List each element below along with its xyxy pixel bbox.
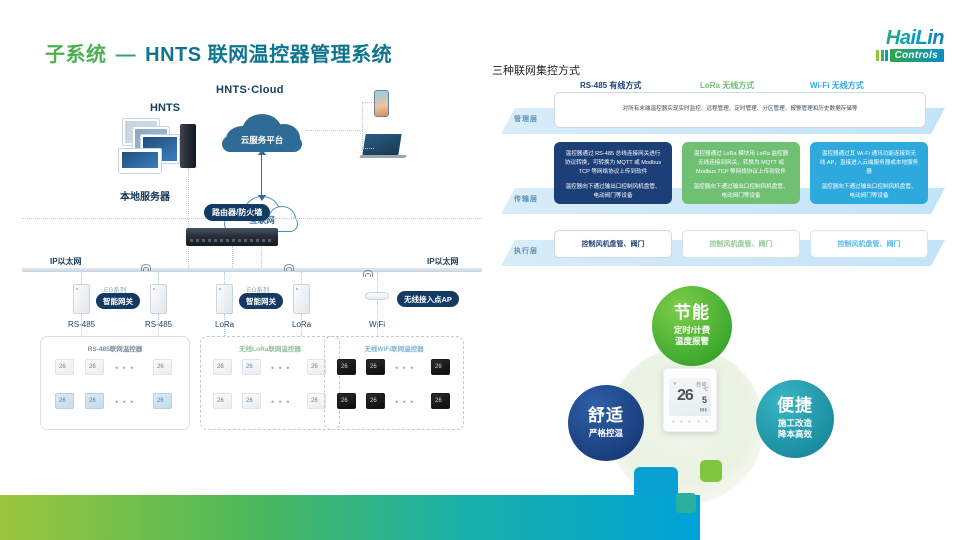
router-drop <box>232 246 233 268</box>
transport-card-wifi: 温控器通过其 Wi-Fi 通讯功能连接到无线 AP，直接进入云端服务器或本地服务… <box>810 142 928 204</box>
layer-band-3-label: 执行层 <box>514 246 538 256</box>
cloud-link-arrow <box>261 154 262 196</box>
management-layer-card: 对所有末端温控器实现实时监控、远程管理、定时管理、分区管理、报警管理和历史数据存… <box>554 92 926 128</box>
gw2-stem <box>224 272 225 284</box>
thermostat-temperature-decimal: 5 <box>702 395 707 405</box>
benefit-circle-comfort: 舒适 严格控温 <box>568 385 644 461</box>
transport-card-rs485-p1: 温控器通过 RS-485 总线连接网关进行协议转换，可转换为 MQTT 或 Mo… <box>563 150 663 178</box>
execution-card-wifi: 控制风机盘管、阀门 <box>810 230 928 258</box>
wifi-signal-icon-2 <box>283 264 294 272</box>
thermostat-buttons[interactable] <box>669 417 711 426</box>
execution-card-rs485-label: 控制风机盘管、阀门 <box>582 239 645 249</box>
layer-band-1-label: 管理层 <box>514 114 538 124</box>
lora-drop-a <box>224 314 225 336</box>
lora-drop-b <box>301 314 302 336</box>
transport-card-wifi-p2: 温控器向下通过输出口控制风机盘管、电动阀门等设备 <box>819 183 919 201</box>
thermostat: 26 <box>55 393 74 409</box>
benefit-convenience-line2: 降本高效 <box>778 429 812 440</box>
mode-header-lora: LoRa 无线方式 <box>700 80 754 91</box>
thermostat-screen: ❄ 自动 26 5 ℃ ▮▮▮ <box>669 378 711 416</box>
ellipsis: • • • <box>271 397 290 407</box>
thermostat: 26 <box>337 359 356 375</box>
benefit-energy-title: 节能 <box>674 304 710 323</box>
cloud-platform-shape: 云服务平台 <box>218 112 306 152</box>
rs485-drop-a <box>81 314 82 336</box>
smartphone-icon <box>374 90 389 117</box>
cloud-platform-label: 云服务平台 <box>218 134 306 146</box>
transport-card-rs485: 温控器通过 RS-485 总线连接网关进行协议转换，可转换为 MQTT 或 Mo… <box>554 142 672 204</box>
left-architecture-diagram: HNTS HNTS·Cloud 本地服务器 云服务平台 <box>22 88 482 458</box>
ethernet-left-label: IP以太网 <box>50 256 82 267</box>
wireless-ap-device <box>365 292 389 300</box>
local-server-label: 本地服务器 <box>120 188 170 203</box>
logo-subtext: Controls <box>890 49 944 62</box>
gw1-stem <box>81 272 82 284</box>
gateway-lora-a <box>216 284 233 314</box>
thermostat: 26 <box>55 359 74 375</box>
wifi-signal-icon-1 <box>140 264 151 272</box>
thermostat-temperature: 26 <box>677 388 693 404</box>
thermostat: 26 <box>153 359 172 375</box>
logo-wordmark: HaiLin <box>826 28 944 48</box>
benefit-convenience-title: 便捷 <box>777 397 813 416</box>
hnts-label: HNTS <box>150 102 180 114</box>
panel-lora-caption: 无线LoRa联网温控器 <box>201 343 339 353</box>
right-diagram-title: 三种联网集控方式 <box>492 62 580 78</box>
ellipsis: • • • <box>115 397 134 407</box>
thermostat: 26 <box>85 393 104 409</box>
title-blue: HNTS 联网温控器管理系统 <box>145 44 392 66</box>
ap-stem <box>377 272 378 292</box>
mode-header-rs485: RS-485 有线方式 <box>580 80 641 91</box>
monitor-laptop <box>118 148 162 174</box>
server-tower <box>180 124 196 168</box>
gw1b-stem <box>158 272 159 284</box>
slide-canvas: 子系统 — HNTS 联网温控器管理系统 HaiLin Controls HNT… <box>0 0 960 540</box>
footer-ribbon <box>0 495 700 540</box>
wifi-signal-icon-3 <box>362 270 373 278</box>
device-branch-line <box>362 102 363 150</box>
execution-card-lora-label: 控制风机盘管、阀门 <box>710 239 773 249</box>
thermostat: 26 <box>242 359 261 375</box>
ribbon-square <box>700 460 722 482</box>
benefit-energy-line2: 温度报警 <box>675 336 709 347</box>
cloud-to-device-line <box>306 130 362 131</box>
mode-header-wifi: Wi-Fi 无线方式 <box>810 80 864 91</box>
ribbon-notch-2 <box>676 493 696 513</box>
thermostat: 26 <box>213 359 232 375</box>
transport-card-lora-p2: 温控器向下通过输出口控制风机盘管、电动阀门等设备 <box>691 183 791 201</box>
branch-laptop-line <box>362 148 374 149</box>
panel-wifi-caption: 无线WiFi联网温控器 <box>325 343 463 353</box>
thermostat: 26 <box>242 393 261 409</box>
gateway-pill-1: 智能网关 <box>96 293 140 309</box>
ellipsis: • • • <box>271 363 290 373</box>
ethernet-bus <box>22 268 482 272</box>
execution-card-rs485: 控制风机盘管、阀门 <box>554 230 672 258</box>
ellipsis: • • • <box>395 363 414 373</box>
thermostat: 26 <box>337 393 356 409</box>
ellipsis: • • • <box>395 397 414 407</box>
hnts-cloud-label: HNTS·Cloud <box>216 84 284 96</box>
gateway-lora-b <box>293 284 310 314</box>
benefit-convenience-line1: 施工改造 <box>778 418 812 429</box>
thermostat: 26 <box>431 359 450 375</box>
ellipsis: • • • <box>115 363 134 373</box>
server-drop <box>188 168 189 268</box>
thermostat-fan-icon: ▮▮▮ <box>700 407 707 413</box>
transport-card-wifi-p1: 温控器通过其 Wi-Fi 通讯功能连接到无线 AP，直接进入云端服务器或本地服务… <box>819 150 919 178</box>
panel-wifi: 无线WiFi联网温控器 26 26 • • • 26 26 26 • • • 2… <box>324 336 464 430</box>
execution-card-wifi-label: 控制风机盘管、阀门 <box>838 239 901 249</box>
branch-phone-line <box>362 102 376 103</box>
laptop-icon <box>360 134 404 159</box>
thermostat: 26 <box>431 393 450 409</box>
management-layer-text: 对所有末端温控器实现实时监控、远程管理、定时管理、分区管理、报警管理和历史数据存… <box>623 105 858 114</box>
layer-band-2-label: 传输层 <box>514 194 538 204</box>
router-firewall-label: 路由器/防火墙 <box>204 204 270 221</box>
thermostat: 26 <box>366 393 385 409</box>
central-thermostat: ❄ 自动 26 5 ℃ ▮▮▮ <box>663 368 717 432</box>
wireless-ap-label: 无线接入点AP <box>397 291 459 307</box>
thermostat: 26 <box>366 359 385 375</box>
benefit-circle-convenience: 便捷 施工改造 降本高效 <box>756 380 834 458</box>
benefit-energy-line1: 定时/计费 <box>674 325 710 336</box>
benefit-comfort-title: 舒适 <box>588 407 624 426</box>
thermostat: 26 <box>85 359 104 375</box>
title-dash: — <box>113 44 140 66</box>
thermostat: 26 <box>213 393 232 409</box>
panel-rs485-caption: RS-485联网温控器 <box>41 343 189 353</box>
transport-card-lora: 温控器通过 LoRa 模块用 LoRa 监控器无线连接到网关，转换为 MQTT … <box>682 142 800 204</box>
title-green: 子系统 <box>45 44 107 66</box>
benefit-circle-energy: 节能 定时/计费 温度报警 <box>652 286 732 366</box>
benefit-comfort-line1: 严格控温 <box>589 428 623 439</box>
logo-bars-icon <box>876 50 888 61</box>
gateway-rs485-a <box>73 284 90 314</box>
router-device <box>186 228 278 246</box>
panel-lora: 无线LoRa联网温控器 26 26 • • • 26 26 26 • • • 2… <box>200 336 340 430</box>
gateway-rs485-b <box>150 284 167 314</box>
ethernet-right-label: IP以太网 <box>427 256 459 267</box>
execution-card-lora: 控制风机盘管、阀门 <box>682 230 800 258</box>
gw2b-stem <box>301 272 302 284</box>
thermostat: 26 <box>153 393 172 409</box>
transport-card-rs485-p2: 温控器向下通过输出口控制风机盘管、电动阀门等设备 <box>563 183 663 201</box>
gateway-pill-2: 智能网关 <box>239 293 283 309</box>
ribbon-notch-1 <box>634 467 678 495</box>
thermostat-unit: ℃ <box>703 387 709 393</box>
wifi-drop <box>377 302 378 336</box>
page-title: 子系统 — HNTS 联网温控器管理系统 <box>45 38 392 67</box>
panel-rs485: RS-485联网温控器 26 26 • • • 26 26 26 • • • 2… <box>40 336 190 430</box>
right-layer-diagram: 三种联网集控方式 RS-485 有线方式 LoRa 无线方式 Wi-Fi 无线方… <box>492 62 944 292</box>
transport-card-lora-p1: 温控器通过 LoRa 模块用 LoRa 监控器无线连接到网关，转换为 MQTT … <box>691 150 791 178</box>
rs485-drop-b <box>158 314 159 336</box>
